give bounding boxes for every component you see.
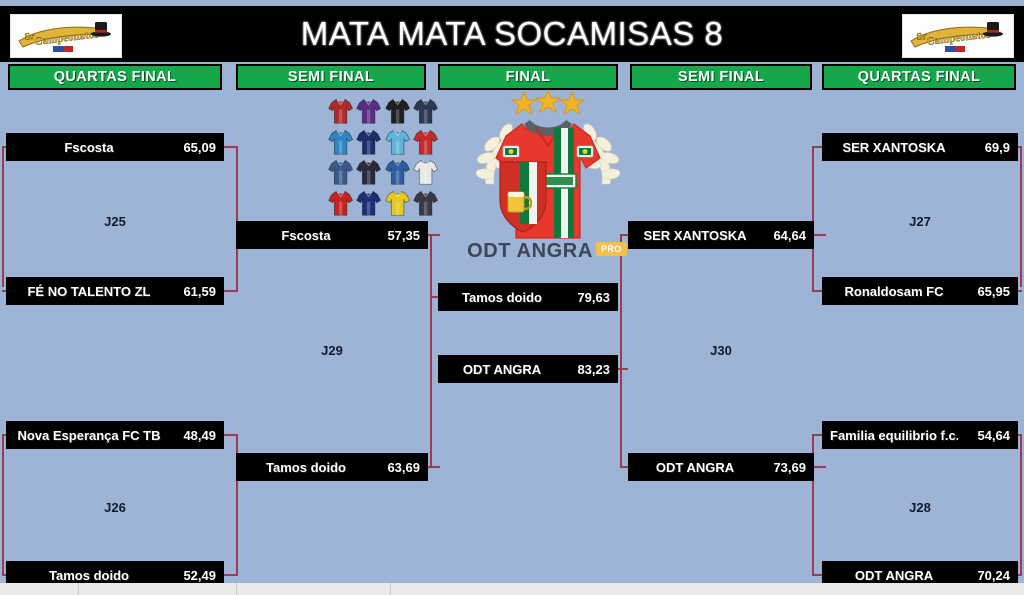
jersey-thumbnail-icon — [355, 96, 382, 126]
match-slot-j30-team-a[interactable]: SER XANTOSKA 64,64 — [628, 221, 814, 249]
connector-j27-join — [812, 146, 814, 292]
team-score: 61,59 — [164, 284, 216, 299]
connector-sf-left-join — [430, 234, 432, 468]
team-score: 63,69 — [368, 460, 420, 475]
match-slot-j27-team-a[interactable]: SER XANTOSKA 69,9 — [822, 133, 1018, 161]
jersey-thumbnail-icon — [355, 127, 382, 157]
bottom-strip — [0, 583, 1024, 595]
team-name: ODT ANGRA — [830, 568, 958, 583]
jersey-thumbnail-icon — [355, 157, 382, 187]
team-name: SER XANTOSKA — [830, 140, 958, 155]
match-id-j28: J28 — [822, 500, 1018, 515]
match-id-j26: J26 — [6, 500, 224, 515]
header-bar: MATA MATA SOCAMISAS 8 Sr Campeonatos Sr … — [0, 6, 1024, 62]
jersey-grid — [327, 96, 439, 214]
jersey-thumbnail-icon — [355, 188, 382, 218]
jersey-thumbnail-icon — [384, 157, 411, 187]
connector-sf-right-join — [620, 234, 622, 468]
connector-entry-j28 — [1020, 435, 1022, 575]
jersey-thumbnail-icon — [327, 96, 354, 126]
team-score: 54,64 — [958, 428, 1010, 443]
team-score: 79,63 — [558, 290, 610, 305]
team-score: 69,9 — [958, 140, 1010, 155]
match-slot-j30-team-b[interactable]: ODT ANGRA 73,69 — [628, 453, 814, 481]
cell-separator — [390, 583, 391, 595]
team-score: 65,95 — [958, 284, 1010, 299]
team-name: Fscosta — [244, 228, 368, 243]
cell-separator — [78, 583, 79, 595]
match-id-j29: J29 — [236, 343, 428, 358]
connector-entry-j27 — [1020, 147, 1022, 287]
match-slot-j27-team-b[interactable]: Ronaldosam FC 65,95 — [822, 277, 1018, 305]
match-slot-j26-team-a[interactable]: Nova Esperança FC TB 48,49 — [6, 421, 224, 449]
connector-sf2b-out — [814, 466, 826, 468]
jersey-thumbnail-icon — [384, 127, 411, 157]
page-title: MATA MATA SOCAMISAS 8 — [0, 6, 1024, 62]
jersey-thumbnail-icon — [384, 188, 411, 218]
jersey-thumbnail-icon — [412, 96, 439, 126]
match-slot-j25-team-a[interactable]: Fscosta 65,09 — [6, 133, 224, 161]
jersey-thumbnail-icon — [327, 157, 354, 187]
team-score: 70,24 — [958, 568, 1010, 583]
jersey-thumbnail-icon — [412, 188, 439, 218]
brand-logo-left-icon: Sr Campeonatos — [10, 14, 122, 58]
jersey-thumbnail-icon — [327, 127, 354, 157]
team-score: 73,69 — [754, 460, 806, 475]
connector-j25-join — [236, 146, 238, 292]
team-score: 57,35 — [368, 228, 420, 243]
jersey-thumbnail-icon — [327, 188, 354, 218]
team-name: Ronaldosam FC — [830, 284, 958, 299]
jersey-thumbnail-icon — [412, 157, 439, 187]
team-name: Tamos doido — [244, 460, 368, 475]
match-slot-j25-team-b[interactable]: FÉ NO TALENTO ZL 61,59 — [6, 277, 224, 305]
team-name: Fscosta — [14, 140, 164, 155]
connector-entry-j25 — [2, 147, 4, 287]
round-header-semi-right: SEMI FINAL — [630, 64, 812, 90]
cell-separator — [236, 583, 237, 595]
team-name: SER XANTOSKA — [636, 228, 754, 243]
team-name: FÉ NO TALENTO ZL — [14, 284, 164, 299]
match-slot-j29-team-b[interactable]: Tamos doido 63,69 — [236, 453, 428, 481]
team-name: Familia equilibrio f.c. — [830, 428, 958, 443]
brand-logo-right-icon: Sr Campeonatos — [902, 14, 1014, 58]
round-header-semi-left: SEMI FINAL — [236, 64, 426, 90]
connector-sf2a-out — [814, 234, 826, 236]
team-name: ODT ANGRA — [636, 460, 754, 475]
team-name: ODT ANGRA — [446, 362, 558, 377]
jersey-thumbnail-icon — [384, 96, 411, 126]
round-header-quarters-left: QUARTAS FINAL — [8, 64, 222, 90]
team-score: 83,23 — [558, 362, 610, 377]
match-slot-j29-team-a[interactable]: Fscosta 57,35 — [236, 221, 428, 249]
team-name: Nova Esperança FC TB — [14, 428, 164, 443]
match-slot-final-team-b[interactable]: ODT ANGRA 83,23 — [438, 355, 618, 383]
round-header-quarters-right: QUARTAS FINAL — [822, 64, 1016, 90]
team-score: 65,09 — [164, 140, 216, 155]
match-id-j30: J30 — [628, 343, 814, 358]
round-header-final: FINAL — [438, 64, 618, 90]
connector-entry-j26 — [2, 435, 4, 575]
team-score: 52,49 — [164, 568, 216, 583]
match-id-j27: J27 — [822, 214, 1018, 229]
team-name: Tamos doido — [446, 290, 558, 305]
match-id-j25: J25 — [6, 214, 224, 229]
match-slot-j28-team-a[interactable]: Familia equilibrio f.c. 54,64 — [822, 421, 1018, 449]
team-score: 64,64 — [754, 228, 806, 243]
match-slot-final-team-a[interactable]: Tamos doido 79,63 — [438, 283, 618, 311]
jersey-thumbnail-icon — [412, 127, 439, 157]
champion-name: ODT ANGRA — [450, 240, 610, 263]
team-score: 48,49 — [164, 428, 216, 443]
team-name: Tamos doido — [14, 568, 164, 583]
champion-badge: PRO — [596, 242, 627, 256]
